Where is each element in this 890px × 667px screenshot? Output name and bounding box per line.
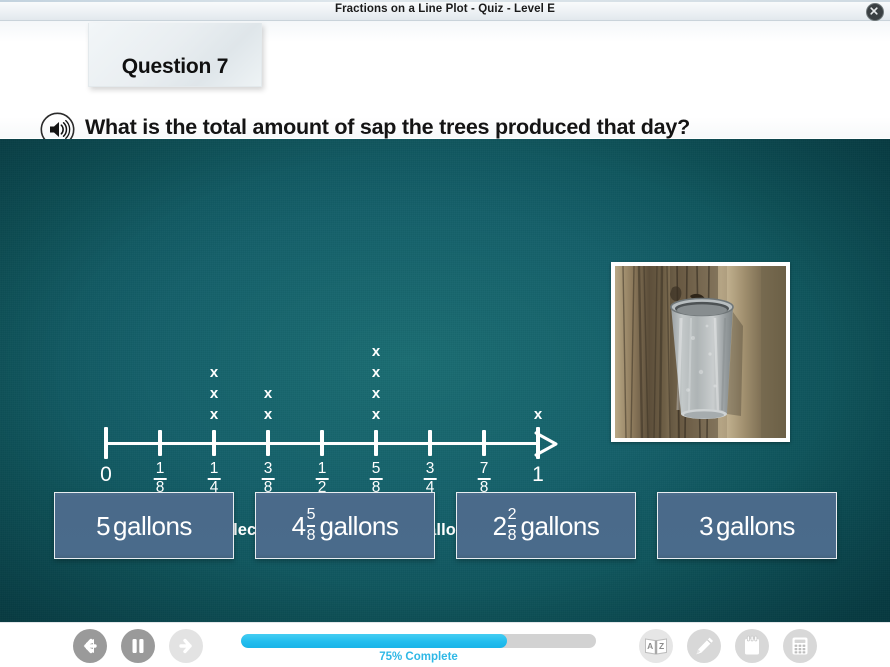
axis-tick [266,430,270,456]
svg-text:Z: Z [659,641,664,651]
data-mark-column: xxxx [372,341,380,425]
answer-whole-number: 2 [493,512,507,540]
answer-choice-button[interactable]: 5gallons [54,492,234,559]
answer-whole-number: 4 [292,512,306,540]
answer-choice-content: 5gallons [96,512,192,540]
data-mark-column: x [534,404,542,425]
answer-choice-content: 228gallons [493,507,600,544]
notepad-icon[interactable] [735,629,769,663]
dictionary-icon[interactable]: A Z [639,629,673,663]
axis-tick [428,430,432,456]
answer-choice-button[interactable]: 228gallons [456,492,636,559]
data-mark-x: x [372,362,380,383]
data-mark-x: x [534,404,542,425]
answer-choice-button[interactable]: 458gallons [255,492,435,559]
progress-section: 75% Complete [241,634,596,663]
question-header: Question 7 What is the total amount of s… [0,21,890,138]
pencil-icon[interactable] [687,629,721,663]
bottom-toolbar: 75% Complete A Z [0,622,890,667]
data-mark-column: xx [264,383,272,425]
pause-icon[interactable] [121,629,155,663]
answer-choice-button[interactable]: 3gallons [657,492,837,559]
question-prompt: What is the total amount of sap the tree… [85,115,690,140]
data-mark-x: x [372,341,380,362]
answer-choice-content: 3gallons [699,512,795,540]
data-mark-x: x [264,404,272,425]
close-icon[interactable] [866,3,884,21]
answer-unit-label: gallons [113,512,192,540]
data-mark-column: xxx [210,362,218,425]
answer-fraction: 28 [508,507,517,544]
axis-tick-label: 0 [100,463,112,487]
window-title: Fractions on a Line Plot - Quiz - Level … [0,3,890,15]
window-titlebar: Fractions on a Line Plot - Quiz - Level … [0,0,890,21]
progress-label: 75% Complete [241,651,596,663]
svg-text:A: A [647,641,653,651]
axis-tick [482,430,486,456]
quiz-application: Fractions on a Line Plot - Quiz - Level … [0,0,890,667]
axis-tick [320,430,324,456]
answer-choices: 5gallons458gallons228gallons3gallons [0,492,890,570]
data-mark-x: x [210,404,218,425]
answer-whole-number: 3 [699,512,713,540]
answer-fraction: 58 [307,507,316,544]
back-arrow-icon[interactable] [73,629,107,663]
data-mark-x: x [372,404,380,425]
quiz-stage: 0181438125834781 xxxxxxxxxx Sap Collecte… [0,139,890,622]
progress-bar-fill [241,634,507,648]
axis-tick [158,430,162,456]
axis-tick [536,427,540,459]
question-number-tab: Question 7 [88,23,262,87]
titlebar-accent-strip [0,0,890,2]
answer-unit-label: gallons [716,512,795,540]
data-mark-x: x [264,383,272,404]
line-plot-chart: 0181438125834781 xxxxxxxxxx Sap Collecte… [86,229,566,519]
axis-tick-label: 1 [532,463,544,487]
data-mark-x: x [210,383,218,404]
data-mark-x: x [372,383,380,404]
answer-choice-content: 458gallons [292,507,399,544]
data-mark-x: x [210,362,218,383]
forward-arrow-icon[interactable] [169,629,203,663]
sap-bucket-photo-frame [611,262,790,442]
calculator-icon[interactable] [783,629,817,663]
answer-whole-number: 5 [96,512,110,540]
axis-tick [104,427,108,459]
answer-unit-label: gallons [520,512,599,540]
axis-tick [374,430,378,456]
axis-tick [212,430,216,456]
sap-bucket-on-tree-photo [615,266,786,438]
answer-unit-label: gallons [319,512,398,540]
progress-bar-track[interactable] [241,634,596,648]
question-number-label: Question 7 [89,55,261,79]
